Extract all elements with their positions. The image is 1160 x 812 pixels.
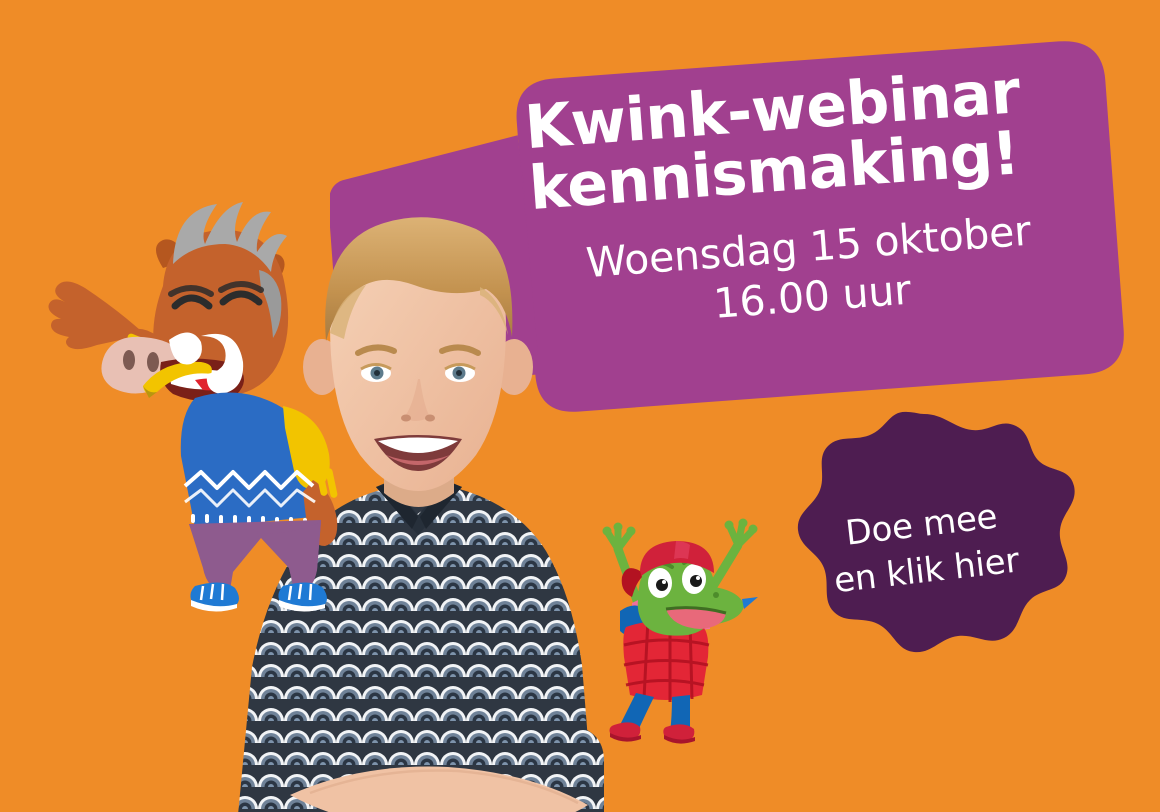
frog-mascot bbox=[592, 505, 767, 745]
warthog-mascot bbox=[45, 190, 355, 620]
frog-illustration bbox=[592, 505, 767, 745]
cta-badge[interactable]: Doe mee en klik hier bbox=[768, 410, 1080, 700]
warthog-illustration bbox=[45, 190, 355, 620]
poster-canvas: Kwink-webinar kennismaking! Woensdag 15 … bbox=[0, 0, 1160, 812]
cta-badge-shape[interactable] bbox=[768, 410, 1080, 700]
